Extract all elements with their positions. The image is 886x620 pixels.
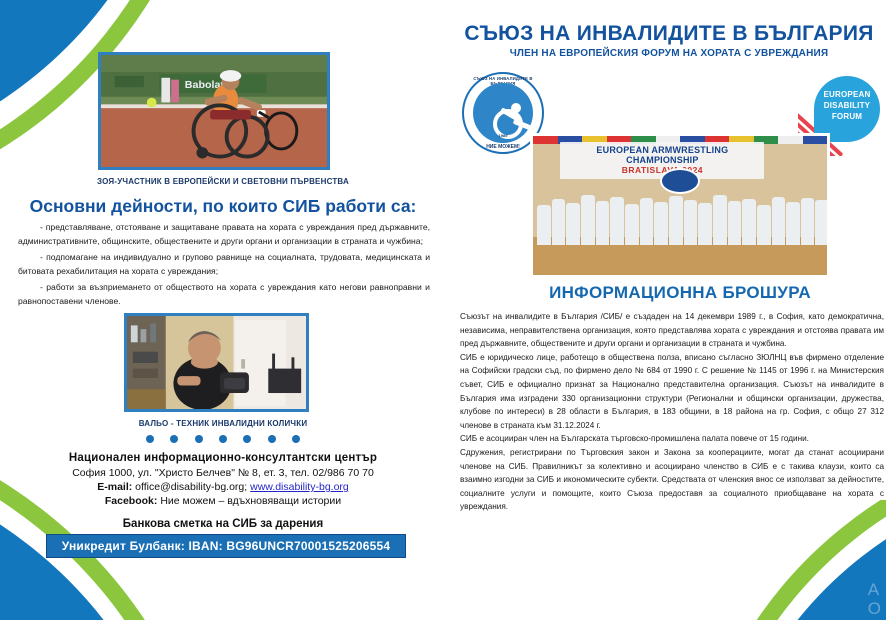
edf-line-3: FORUM — [814, 111, 880, 122]
person-silhouette — [815, 200, 829, 245]
about-paragraph-4: Сдружения, регистрирани по Търговския за… — [460, 446, 884, 514]
contact-block: Национален информационно-консултантски ц… — [0, 452, 446, 509]
person-silhouette — [596, 201, 610, 245]
divider-dot — [146, 435, 154, 443]
email-label: E-mail: — [97, 481, 132, 493]
contact-center-title: Национален информационно-консултантски ц… — [0, 452, 446, 464]
facebook-value: Ние можем – вдъхновяващи истории — [160, 495, 341, 507]
caption-technician: ВАЛЬО - ТЕХНИК ИНВАЛИДНИ КОЛИЧКИ — [0, 419, 446, 428]
person-silhouette — [566, 203, 580, 245]
about-paragraph-3: СИБ е асоцииран член на Българската търг… — [460, 432, 884, 446]
divider-dot — [243, 435, 251, 443]
activity-item-3: - работи за възприемането от обществото … — [18, 280, 430, 309]
contact-facebook-line: Facebook: Ние можем – вдъхновяващи истор… — [0, 495, 446, 507]
person-silhouette — [654, 202, 668, 245]
wheelchair-head-icon — [511, 103, 521, 113]
contact-address: София 1000, ул. "Христо Белчев" № 8, ет.… — [0, 467, 446, 479]
edf-line-2: DISABILITY — [814, 100, 880, 111]
website-link[interactable]: www.disability-bg.org — [250, 481, 349, 493]
email-value: office@disability-bg.org; — [135, 481, 247, 493]
technician-photo-graphic — [127, 316, 306, 409]
person-silhouette — [757, 205, 771, 245]
activities-list: - представляване, отстояване и защитаван… — [18, 220, 430, 309]
photo-wheelchair-technician — [124, 313, 309, 412]
activities-title: Основни дейности, по които СИБ работи са… — [0, 196, 446, 217]
person-silhouette — [772, 197, 786, 245]
person-silhouette — [742, 199, 756, 245]
flag — [803, 136, 828, 144]
organisation-subtitle: ЧЛЕН НА ЕВРОПЕЙСКИЯ ФОРУМ НА ХОРАТА С УВ… — [452, 48, 886, 59]
brochure-heading: ИНФОРМАЦИОННА БРОШУРА — [530, 283, 830, 303]
photo-wheelchair-tennis: Babolat — [98, 52, 330, 170]
dot-divider — [0, 430, 446, 448]
person-silhouette — [537, 205, 551, 245]
person-silhouette — [625, 204, 639, 245]
person-silhouette — [698, 203, 712, 245]
divider-dot — [170, 435, 178, 443]
edf-logo-text: EUROPEAN DISABILITY FORUM — [814, 89, 880, 122]
edf-line-1: EUROPEAN — [814, 89, 880, 100]
about-text-block: Съюзът на инвалидите в България /СИБ/ е … — [460, 310, 884, 514]
bank-account-title: Банкова сметка на СИБ за дарения — [0, 518, 446, 530]
divider-dot — [195, 435, 203, 443]
person-silhouette — [552, 199, 566, 245]
flag — [533, 136, 558, 144]
person-silhouette — [669, 196, 683, 245]
activity-item-2: - подпомагане на индивидуално и групово … — [18, 250, 430, 279]
facebook-label: Facebook: — [105, 495, 158, 507]
left-column: Babolat — [0, 0, 446, 620]
person-silhouette — [581, 195, 595, 245]
person-silhouette — [713, 195, 727, 245]
brochure-page: А О Babolat — [0, 0, 886, 620]
person-silhouette — [786, 202, 800, 245]
right-column: СЪЮЗ НА ИНВАЛИДИТЕ В БЪЛГАРИЯ ЧЛЕН НА ЕВ… — [452, 0, 886, 620]
caption-tennis: ЗОЯ-УЧАСТНИК В ЕВРОПЕЙСКИ И СВЕТОВНИ ПЪР… — [0, 177, 446, 186]
person-silhouette — [684, 200, 698, 245]
about-paragraph-1: Съюзът на инвалидите в България /СИБ/ е … — [460, 310, 884, 351]
photo-armwrestling-team: EUROPEAN ARMWRESTLING CHAMPIONSHIP BRATI… — [530, 133, 830, 278]
divider-dot — [292, 435, 300, 443]
activity-item-1: - представляване, отстояване и защитаван… — [18, 220, 430, 249]
banner-line-1: EUROPEAN ARMWRESTLING CHAMPIONSHIP — [562, 145, 762, 165]
organisation-title: СЪЮЗ НА ИНВАЛИДИТЕ В БЪЛГАРИЯ — [452, 22, 886, 46]
flag — [778, 136, 803, 144]
person-silhouette — [728, 201, 742, 245]
iban-bar: Уникредит Булбанк: IBAN: BG96UNCR7000152… — [46, 534, 406, 558]
person-silhouette — [610, 197, 624, 245]
about-paragraph-2: СИБ е юридическо лице, работещо в общест… — [460, 351, 884, 433]
divider-dot — [219, 435, 227, 443]
person-silhouette — [640, 198, 654, 245]
divider-dot — [268, 435, 276, 443]
team-group-silhouettes — [537, 187, 829, 245]
contact-email-line: E-mail: office@disability-bg.org; www.di… — [0, 481, 446, 493]
tennis-photo-graphic: Babolat — [101, 55, 327, 167]
person-silhouette — [801, 198, 815, 245]
